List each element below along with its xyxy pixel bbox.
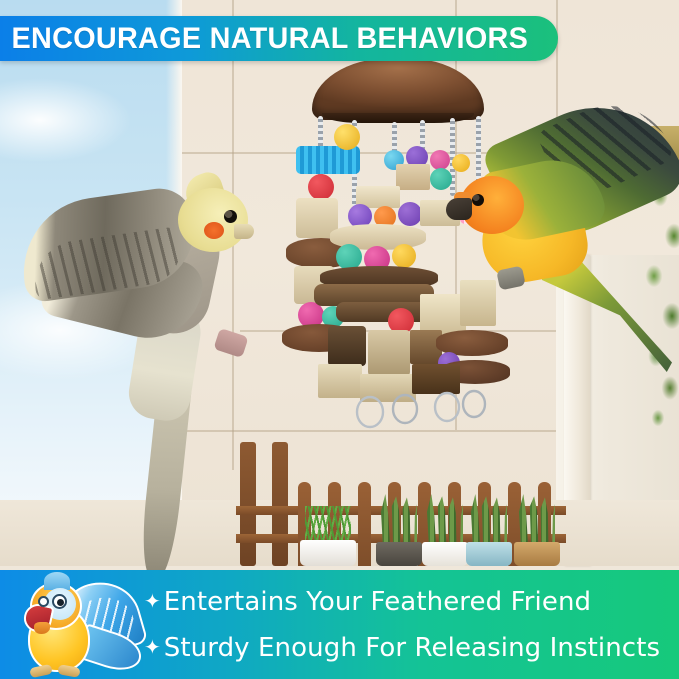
plant-pot <box>466 542 512 566</box>
feature-bullet-label: Sturdy Enough For Releasing Instincts <box>164 633 660 663</box>
potted-snake-plant <box>422 488 468 566</box>
headline-banner: ENCOURAGE NATURAL BEHAVIORS <box>0 16 558 61</box>
cockatiel-cheek-patch <box>204 222 224 239</box>
blue-plastic-spool <box>296 146 360 174</box>
potted-snake-plant <box>514 488 560 566</box>
wood-block <box>318 364 362 398</box>
cockatiel-beak <box>234 224 254 239</box>
feature-bullet-label: Entertains Your Feathered Friend <box>164 587 591 617</box>
plant-pot <box>514 542 560 566</box>
star-bullet-icon: ✦ <box>144 638 161 658</box>
metal-hanging-ring <box>388 392 422 426</box>
colorful-bead <box>308 174 334 200</box>
parrot-far-eye <box>38 596 49 607</box>
feature-bullet-item: ✦ Entertains Your Feathered Friend <box>144 587 660 617</box>
metal-hanging-ring <box>352 394 388 430</box>
fence-picket <box>358 482 371 566</box>
sun-conure-foot <box>496 266 526 291</box>
dark-wood-block <box>328 326 366 366</box>
potted-snake-plant <box>376 488 422 566</box>
cockatiel-bird <box>28 182 268 482</box>
feature-bullet-item: ✦ Sturdy Enough For Releasing Instincts <box>144 633 660 663</box>
star-bullet-icon: ✦ <box>144 592 161 612</box>
colorful-bead <box>392 244 416 268</box>
cockatiel-eye <box>224 210 237 223</box>
parrot-eye <box>52 594 67 609</box>
plant-pot <box>300 540 356 566</box>
colorful-bead <box>398 202 422 226</box>
wood-block <box>396 164 430 190</box>
feature-banner: ✦ Entertains Your Feathered Friend ✦ Stu… <box>0 570 679 679</box>
wood-log <box>368 330 410 376</box>
fence-post <box>272 442 288 566</box>
headline-text: ENCOURAGE NATURAL BEHAVIORS <box>0 22 528 56</box>
parrot-mascot-icon <box>0 570 140 679</box>
plant-pot <box>422 542 468 566</box>
colorful-bead <box>334 124 360 150</box>
sun-conure-eye <box>472 194 484 206</box>
feature-bullet-list: ✦ Entertains Your Feathered Friend ✦ Stu… <box>140 587 660 663</box>
cockatiel-head <box>178 188 248 252</box>
potted-snake-plant <box>466 488 512 566</box>
parrot-foot <box>29 664 53 678</box>
plant-pot <box>376 542 422 566</box>
coconut-shell-top <box>312 58 484 120</box>
sun-conure-beak <box>446 198 472 220</box>
metal-hanging-ring <box>458 388 490 420</box>
potted-grass-plant <box>300 492 356 566</box>
product-marketing-image: ENCOURAGE NATURAL BEHAVIORS ✦ Entertains… <box>0 0 679 679</box>
cockatiel-foot <box>213 328 248 358</box>
sun-conure-bird <box>440 122 670 352</box>
